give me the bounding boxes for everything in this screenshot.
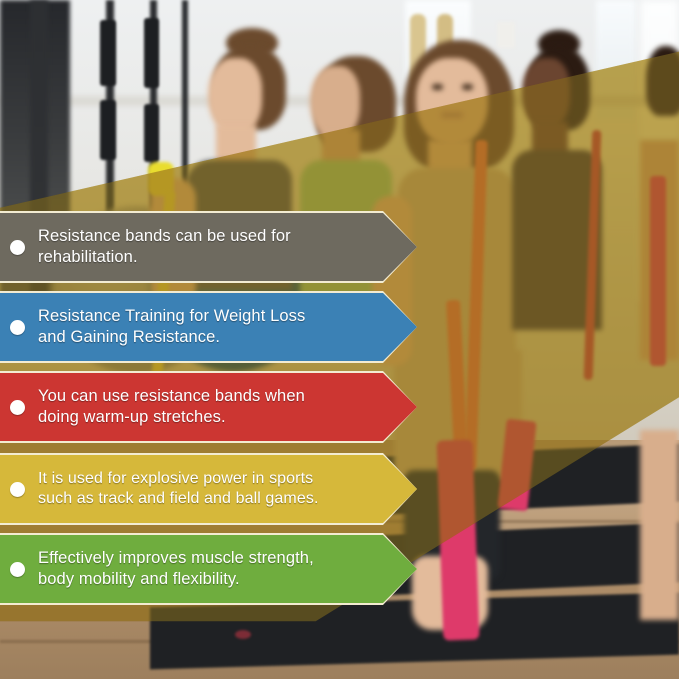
- banner-weight-loss[interactable]: Resistance Training for Weight Loss and …: [0, 293, 417, 361]
- banner-line-2: such as track and field and ball games.: [38, 489, 319, 509]
- banner-line-1: Resistance bands can be used for: [38, 226, 291, 247]
- banner-text-muscle-strength: Effectively improves muscle strength, bo…: [38, 548, 354, 590]
- banner-explosive-power[interactable]: It is used for explosive power in sports…: [0, 455, 417, 523]
- banner-rehabilitation[interactable]: Resistance bands can be used for rehabil…: [0, 213, 417, 281]
- benefit-banner-list: Resistance bands can be used for rehabil…: [0, 0, 679, 679]
- banner-text-warm-up: You can use resistance bands when doing …: [38, 386, 345, 428]
- infographic-canvas: Resistance bands can be used for rehabil…: [0, 0, 679, 679]
- banner-text-rehabilitation: Resistance bands can be used for rehabil…: [38, 226, 331, 268]
- banner-text-explosive-power: It is used for explosive power in sports…: [38, 469, 359, 510]
- bullet-dot-icon: [10, 482, 25, 497]
- banner-line-2: rehabilitation.: [38, 247, 291, 268]
- bullet-dot-icon: [10, 400, 25, 415]
- banner-line-2: doing warm-up stretches.: [38, 407, 305, 428]
- banner-warm-up[interactable]: You can use resistance bands when doing …: [0, 373, 417, 441]
- banner-line-1: Effectively improves muscle strength,: [38, 548, 314, 569]
- banner-line-1: It is used for explosive power in sports: [38, 469, 319, 489]
- banner-muscle-strength[interactable]: Effectively improves muscle strength, bo…: [0, 535, 417, 603]
- banner-line-1: You can use resistance bands when: [38, 386, 305, 407]
- banner-text-weight-loss: Resistance Training for Weight Loss and …: [38, 306, 345, 348]
- bullet-dot-icon: [10, 240, 25, 255]
- banner-line-2: and Gaining Resistance.: [38, 327, 305, 348]
- bullet-dot-icon: [10, 320, 25, 335]
- bullet-dot-icon: [10, 562, 25, 577]
- banner-line-2: body mobility and flexibility.: [38, 569, 314, 590]
- banner-line-1: Resistance Training for Weight Loss: [38, 306, 305, 327]
